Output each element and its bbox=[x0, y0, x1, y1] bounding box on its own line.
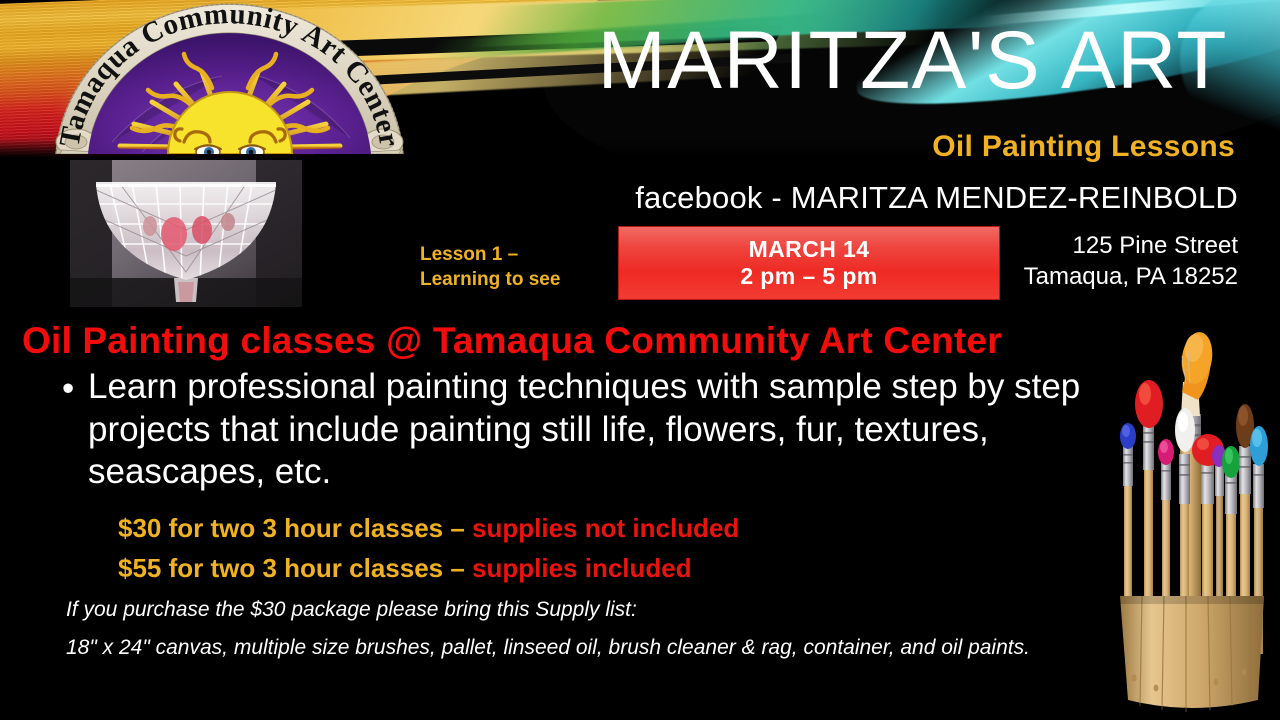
pricing-block: $30 for two 3 hour classes – supplies no… bbox=[118, 508, 1018, 589]
class-headline: Oil Painting classes @ Tamaqua Community… bbox=[22, 320, 1162, 362]
supply-list-note: If you purchase the $30 package please b… bbox=[66, 596, 1106, 662]
flyer-canvas: Tamaqua Community Art Center MARITZA'S A… bbox=[0, 0, 1280, 720]
supply-items: 18" x 24" canvas, multiple size brushes,… bbox=[66, 634, 1106, 661]
lesson-label-line2: Learning to see bbox=[420, 267, 610, 292]
paintbrushes-photo bbox=[1098, 296, 1280, 720]
address-city-state-zip: Tamaqua, PA 18252 bbox=[930, 262, 1238, 293]
date-text: MARCH 14 bbox=[749, 236, 870, 263]
tamaqua-art-center-logo: Tamaqua Community Art Center bbox=[42, 2, 417, 154]
description-text: Learn professional painting techniques w… bbox=[62, 366, 1107, 494]
subtitle: Oil Painting Lessons bbox=[500, 130, 1235, 164]
price-55-note: supplies included bbox=[472, 553, 692, 583]
time-text: 2 pm – 5 pm bbox=[740, 263, 877, 290]
bullet-marker-icon: • bbox=[62, 368, 74, 411]
page-title: MARITZA'S ART bbox=[488, 20, 1228, 102]
venue-address: 125 Pine Street Tamaqua, PA 18252 bbox=[930, 231, 1238, 292]
price-55-label: $55 for two 3 hour classes – bbox=[118, 553, 472, 583]
price-row-30: $30 for two 3 hour classes – supplies no… bbox=[118, 508, 1018, 548]
facebook-handle: facebook - MARITZA MENDEZ-REINBOLD bbox=[420, 180, 1238, 216]
lesson-label: Lesson 1 – Learning to see bbox=[420, 242, 610, 292]
address-street: 125 Pine Street bbox=[930, 231, 1238, 262]
price-30-label: $30 for two 3 hour classes – bbox=[118, 513, 472, 543]
supply-intro: If you purchase the $30 package please b… bbox=[66, 598, 637, 621]
price-30-note: supplies not included bbox=[472, 513, 739, 543]
price-row-55: $55 for two 3 hour classes – supplies in… bbox=[118, 548, 1018, 588]
description-bullet: • Learn professional painting techniques… bbox=[62, 366, 1107, 494]
lesson-label-line1: Lesson 1 – bbox=[420, 242, 610, 267]
glass-bowl-photo bbox=[70, 160, 302, 307]
